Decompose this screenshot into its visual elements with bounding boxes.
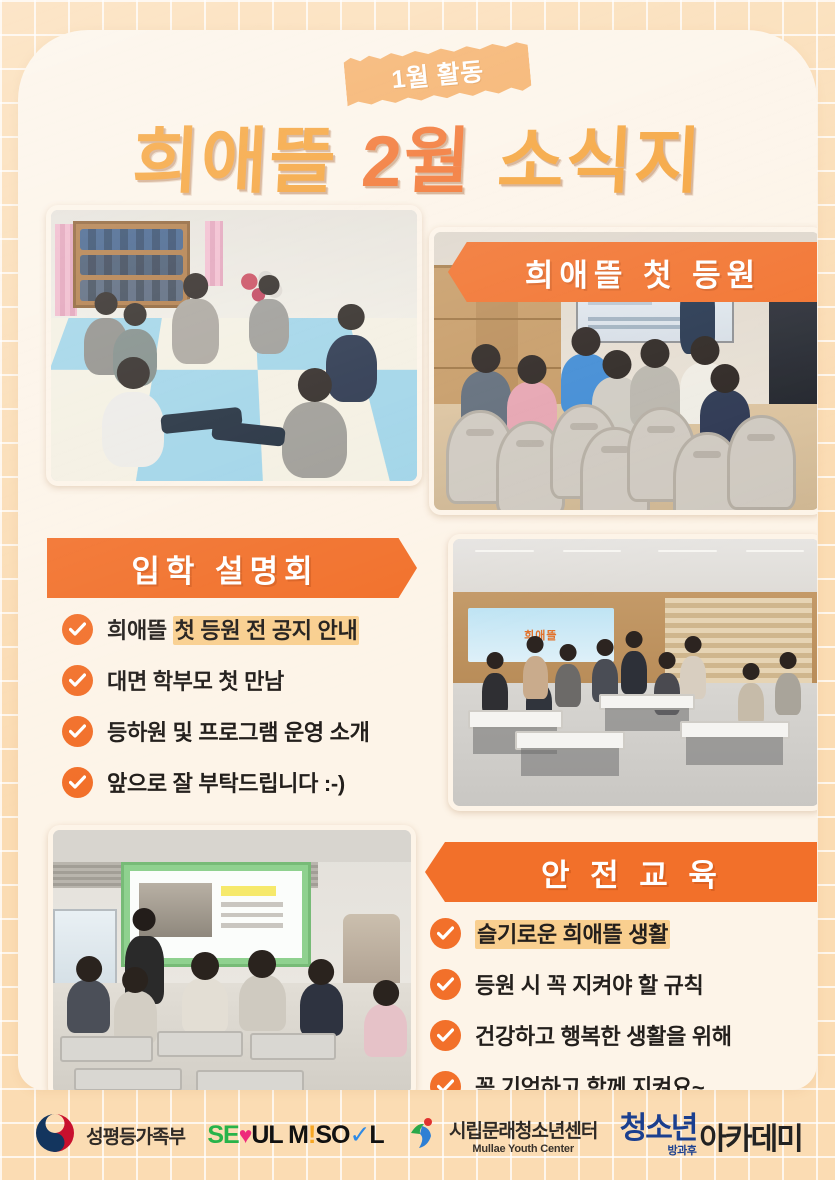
check-icon [62, 614, 93, 645]
logo-seoul-my-soul: SE♥UL M!SO✓L [207, 1120, 383, 1150]
seminar-person-4 [555, 664, 581, 707]
title-part-3: 소식지 [495, 102, 705, 207]
photo-safety-education [48, 825, 416, 1090]
photo-seminar-scene: 희애뜰 [453, 539, 817, 806]
section-banner-first-day: 희애뜰 첫 등원 [448, 242, 817, 302]
seminar-person-10 [775, 673, 801, 716]
bullet-list-safety: 슬기로운 희애뜰 생활 등원 시 꼭 지켜야 할 규칙 건강하고 행복한 생활을… [430, 916, 817, 1090]
logo-academy-cheong: 청소년 [620, 1112, 697, 1145]
safety-desk-1 [60, 1036, 153, 1062]
logo-mogef: 성평등가족부 [33, 1111, 185, 1160]
bullet-text: 앞으로 잘 부탁드립니다 :-) [107, 766, 345, 798]
bullet-text: 꼭 기억하고 함께 지켜요~ [475, 1070, 704, 1090]
list-item: 꼭 기억하고 함께 지켜요~ [430, 1069, 817, 1090]
seminar-desk-3 [599, 694, 694, 710]
check-icon [62, 665, 93, 696]
logo-mullae-kr: 시립문래청소년센터 [449, 1116, 597, 1143]
poster-card: 1월 활동 희애뜰 2월 소식지 [18, 30, 817, 1090]
bullet-text: 슬기로운 희애뜰 생활 [475, 917, 670, 949]
logo-mullae: 시립문래청소년센터 Mullae Youth Center [406, 1116, 597, 1155]
classroom-chair-7 [727, 415, 796, 510]
safety-child-5 [300, 983, 343, 1036]
gym-teacher [172, 299, 220, 364]
gym-child-5 [102, 392, 164, 468]
list-item: 슬기로운 희애뜰 생활 [430, 916, 817, 950]
safety-child-6 [364, 1004, 407, 1057]
bullet-text: 대면 학부모 첫 만남 [107, 664, 284, 696]
gym-rolled-mats-mid [205, 221, 223, 286]
taeguk-icon [33, 1111, 77, 1160]
month-ribbon-label: 1월 활동 [390, 52, 485, 96]
safety-desk-5 [196, 1070, 303, 1090]
list-item: 등원 시 꼭 지켜야 할 규칙 [430, 967, 817, 1001]
section-banner-safety: 안 전 교 육 [425, 842, 817, 902]
safety-child-4 [239, 975, 286, 1030]
list-item: 대면 학부모 첫 만남 [62, 663, 442, 697]
safety-ceiling [53, 830, 411, 862]
bullet-text: 건강하고 행복한 생활을 위해 [475, 1019, 732, 1051]
logo-mullae-text: 시립문래청소년센터 Mullae Youth Center [449, 1116, 597, 1155]
footer-logos: 성평등가족부 SE♥UL M!SO✓L 시립문래청소년센터 Mullae You… [0, 1090, 835, 1180]
poster-background: 1월 활동 희애뜰 2월 소식지 [0, 0, 835, 1180]
seminar-desk-1 [468, 710, 563, 729]
logo-mullae-en: Mullae Youth Center [472, 1143, 574, 1155]
logo-academy-bangwahu: 방과후 [668, 1145, 697, 1157]
section-banner-safety-label: 안 전 교 육 [541, 850, 723, 895]
logo-academy: 청소년 방과후 아카데미 [620, 1112, 802, 1157]
bullet-text: 등원 시 꼭 지켜야 할 규칙 [475, 968, 703, 1000]
seminar-person-1 [482, 673, 508, 716]
seminar-desk-4 [680, 721, 790, 740]
seminar-person-8 [680, 656, 706, 699]
gym-child-4 [326, 335, 377, 403]
seminar-person-6 [621, 651, 647, 694]
gym-child-6 [282, 402, 348, 478]
check-icon [430, 969, 461, 1000]
section-banner-first-day-label: 희애뜰 첫 등원 [525, 250, 761, 295]
check-icon [62, 716, 93, 747]
bullet-text: 희애뜰 첫 등원 전 공지 안내 [107, 613, 359, 645]
title-part-1: 희애뜰 [130, 102, 340, 207]
photo-gym-activity [46, 205, 422, 486]
photo-safety-scene [53, 830, 411, 1090]
month-ribbon: 1월 활동 [343, 40, 532, 109]
seminar-person-3 [523, 656, 549, 699]
logo-academy-name: 아카데미 [699, 1114, 801, 1158]
bullet-text: 등하원 및 프로그램 운영 소개 [107, 715, 370, 747]
page-title: 희애뜰 2월 소식지 [18, 102, 817, 207]
gym-shelf [73, 221, 190, 308]
list-item: 등하원 및 프로그램 운영 소개 [62, 714, 442, 748]
photo-gym-scene [51, 210, 417, 481]
list-item: 희애뜰 첫 등원 전 공지 안내 [62, 612, 442, 646]
title-part-2: 2월 [360, 102, 476, 207]
safety-child-1 [67, 980, 110, 1033]
bullet-text-highlight: 슬기로운 희애뜰 생활 [475, 920, 670, 949]
check-icon [430, 1020, 461, 1051]
logo-mogef-label: 성평등가족부 [86, 1122, 185, 1149]
safety-desk-2 [157, 1031, 243, 1057]
mullae-mark-icon [406, 1116, 440, 1155]
logo-seoul-wordmark: SE♥UL M!SO✓L [207, 1120, 383, 1150]
seminar-ceiling [453, 539, 817, 598]
check-icon [430, 1071, 461, 1091]
seminar-desk-2 [515, 731, 625, 750]
bullet-list-orientation: 희애뜰 첫 등원 전 공지 안내 대면 학부모 첫 만남 등하원 및 프로그램 … [62, 612, 442, 816]
list-item: 건강하고 행복한 생활을 위해 [430, 1018, 817, 1052]
list-item: 앞으로 잘 부탁드립니다 :-) [62, 765, 442, 799]
section-banner-orientation: 입학 설명회 [47, 538, 417, 598]
bullet-text-pre: 희애뜰 [107, 618, 173, 643]
safety-desk-3 [250, 1033, 336, 1059]
safety-desk-4 [74, 1068, 181, 1090]
safety-child-3 [182, 978, 229, 1033]
bullet-text-highlight: 첫 등원 전 공지 안내 [173, 616, 360, 645]
section-banner-orientation-label: 입학 설명회 [131, 546, 318, 591]
check-icon [62, 767, 93, 798]
photo-orientation-seminar: 희애뜰 [448, 534, 817, 811]
seminar-person-9 [738, 683, 764, 726]
gym-child-3 [249, 299, 289, 353]
check-icon [430, 918, 461, 949]
